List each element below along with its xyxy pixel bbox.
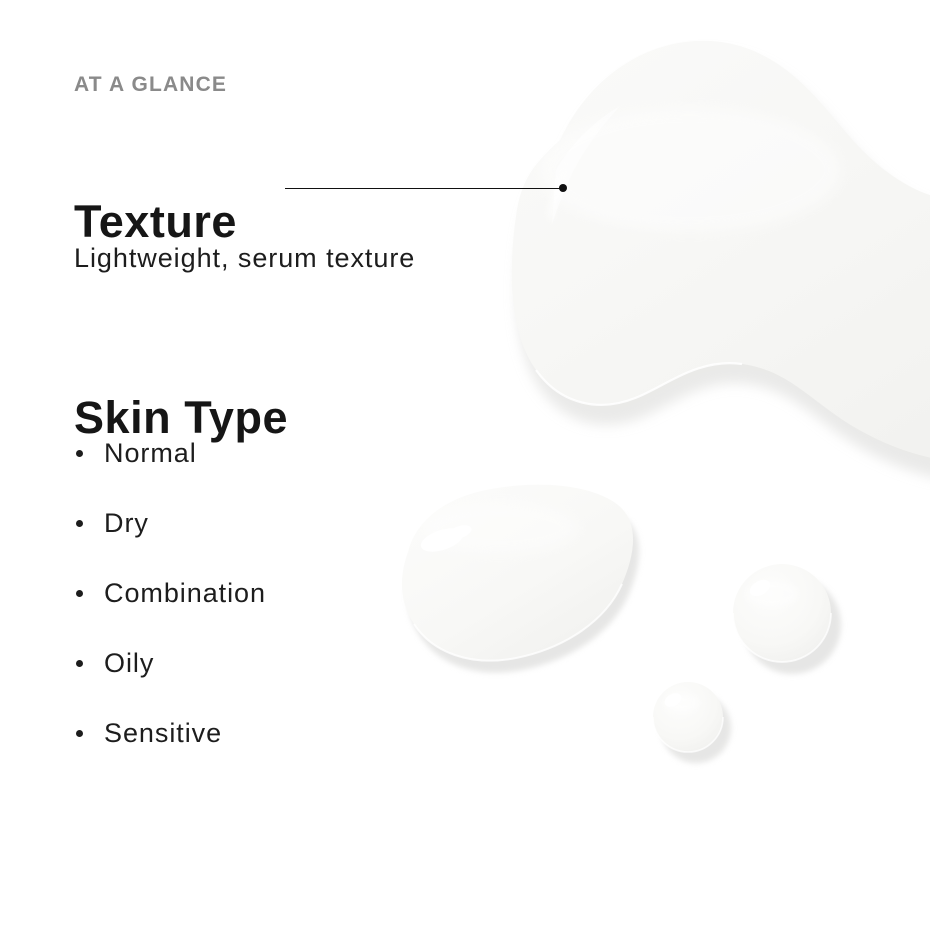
list-item-label: Oily [104, 648, 154, 678]
texture-heading: Texture [74, 199, 237, 244]
bullet-dot-icon [76, 450, 83, 457]
list-item: Oily [74, 647, 266, 717]
bullet-dot-icon [76, 730, 83, 737]
skin-type-list: Normal Dry Combination Oily Sensitive [74, 437, 266, 787]
leader-rule [285, 188, 563, 189]
medium-serum-blob [402, 485, 639, 673]
small-serum-droplet [733, 564, 841, 674]
bullet-dot-icon [76, 590, 83, 597]
texture-leader-line [285, 187, 567, 189]
texture-description: Lightweight, serum texture [74, 243, 415, 274]
list-item-label: Dry [104, 508, 149, 538]
leader-endpoint-dot-icon [559, 184, 567, 192]
large-serum-blob [512, 41, 930, 482]
skin-type-heading: Skin Type [74, 395, 288, 440]
list-item: Combination [74, 577, 266, 647]
list-item: Sensitive [74, 717, 266, 787]
bullet-dot-icon [76, 660, 83, 667]
eyebrow-label: AT A GLANCE [74, 74, 227, 95]
list-item-label: Combination [104, 578, 266, 608]
list-item: Normal [74, 437, 266, 507]
bullet-dot-icon [76, 520, 83, 527]
tiny-serum-droplet [653, 682, 731, 763]
list-item-label: Sensitive [104, 718, 222, 748]
list-item-label: Normal [104, 438, 197, 468]
list-item: Dry [74, 507, 266, 577]
at-a-glance-panel: AT A GLANCE Texture Lightweight, serum t… [0, 0, 930, 930]
